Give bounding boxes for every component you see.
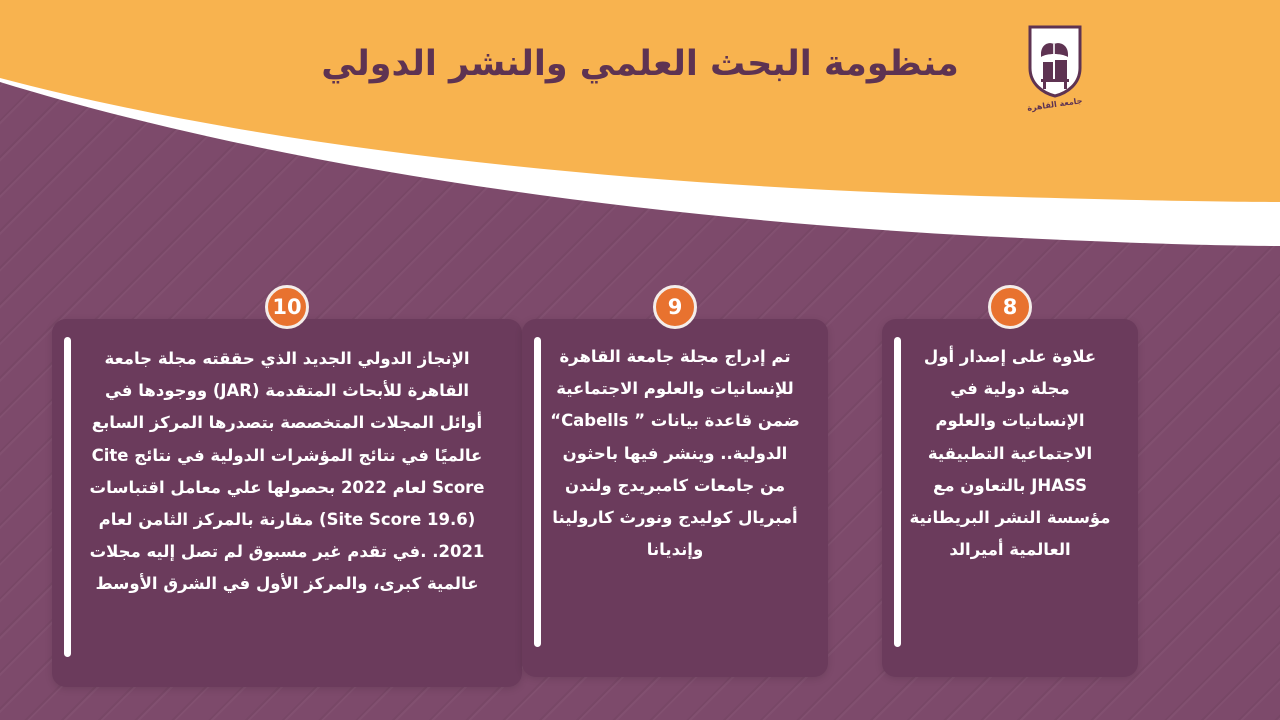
card-accent-bar	[64, 337, 71, 657]
card-body-text-9: تم إدراج مجلة جامعة القاهرة للإنسانيات و…	[548, 341, 802, 566]
page-title: منظومة البحث العلمي والنشر الدولي	[170, 43, 1110, 87]
card-body-text-8: علاوة على إصدار أول مجلة دولية في الإنسا…	[908, 341, 1112, 566]
card-accent-bar	[534, 337, 541, 647]
card-column-9: 9 تم إدراج مجلة جامعة القاهرة للإنسانيات…	[522, 285, 828, 677]
card-column-8: 8 علاوة على إصدار أول مجلة دولية في الإن…	[882, 285, 1138, 677]
infographic-slide: منظومة البحث العلمي والنشر الدولي جامعة …	[0, 0, 1280, 720]
card-number-badge-9: 9	[653, 285, 697, 329]
cards-row: 10 الإنجاز الدولي الجديد الذي حققته مجلة…	[0, 285, 1280, 715]
info-card-10[interactable]: الإنجاز الدولي الجديد الذي حققته مجلة جا…	[52, 319, 522, 687]
card-column-10: 10 الإنجاز الدولي الجديد الذي حققته مجلة…	[52, 285, 522, 687]
card-body-text-10: الإنجاز الدولي الجديد الذي حققته مجلة جا…	[82, 343, 492, 600]
card-number-badge-10: 10	[265, 285, 309, 329]
info-card-8[interactable]: علاوة على إصدار أول مجلة دولية في الإنسا…	[882, 319, 1138, 677]
shield-icon	[1027, 24, 1083, 98]
cairo-university-shield-logo: جامعة القاهرة	[1018, 24, 1092, 128]
card-accent-bar	[894, 337, 901, 647]
shield-graphic	[1027, 24, 1083, 98]
logo-caption: جامعة القاهرة	[1027, 96, 1083, 113]
card-number-badge-8: 8	[988, 285, 1032, 329]
info-card-9[interactable]: تم إدراج مجلة جامعة القاهرة للإنسانيات و…	[522, 319, 828, 677]
